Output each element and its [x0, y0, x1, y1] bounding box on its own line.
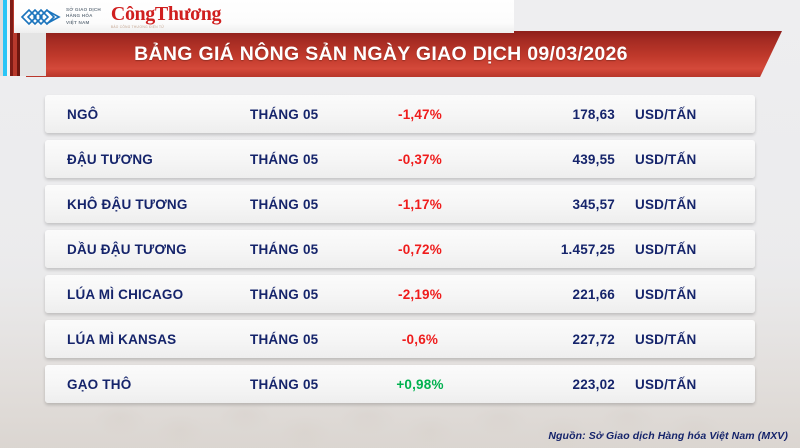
commodity-name: LÚA MÌ KANSAS: [67, 332, 176, 347]
cong-thuong-subtitle: BÁO CÔNG THƯƠNG ĐIỆN TỬ: [111, 25, 221, 29]
price-value: 178,63: [485, 107, 615, 122]
table-row: KHÔ ĐẬU TƯƠNGTHÁNG 05-1,17%345,57USD/TẤN: [45, 185, 755, 223]
commodity-name: ĐẬU TƯƠNG: [67, 152, 153, 167]
price-change: -0,37%: [355, 152, 485, 167]
price-unit: USD/TẤN: [635, 242, 696, 257]
logo-bar: SỞ GIAO DỊCH HÀNG HÓA VIỆT NAM CôngThươn…: [14, 0, 514, 33]
title-banner: BẢNG GIÁ NÔNG SẢN NGÀY GIAO DỊCH 09/03/2…: [26, 31, 782, 77]
price-unit: USD/TẤN: [635, 332, 696, 347]
price-value: 223,02: [485, 377, 615, 392]
contract-month: THÁNG 05: [250, 377, 318, 392]
mxv-diamond-mark: [20, 6, 62, 28]
price-value: 1.457,25: [485, 242, 615, 257]
table-row: DẦU ĐẬU TƯƠNGTHÁNG 05-0,72%1.457,25USD/T…: [45, 230, 755, 268]
price-change: +0,98%: [355, 377, 485, 392]
mxv-logo-text: SỞ GIAO DỊCH HÀNG HÓA VIỆT NAM: [66, 7, 101, 27]
table-row: LÚA MÌ KANSASTHÁNG 05-0,6%227,72USD/TẤN: [45, 320, 755, 358]
mxv-logo: SỞ GIAO DỊCH HÀNG HÓA VIỆT NAM: [20, 6, 101, 28]
contract-month: THÁNG 05: [250, 197, 318, 212]
commodity-name: LÚA MÌ CHICAGO: [67, 287, 183, 302]
price-value: 227,72: [485, 332, 615, 347]
table-row: LÚA MÌ CHICAGOTHÁNG 05-2,19%221,66USD/TẤ…: [45, 275, 755, 313]
cong-thuong-logo: CôngThương BÁO CÔNG THƯƠNG ĐIỆN TỬ: [111, 4, 221, 29]
table-row: NGÔTHÁNG 05-1,47%178,63USD/TẤN: [45, 95, 755, 133]
contract-month: THÁNG 05: [250, 242, 318, 257]
table-row: GẠO THÔTHÁNG 05+0,98%223,02USD/TẤN: [45, 365, 755, 403]
commodity-name: KHÔ ĐẬU TƯƠNG: [67, 197, 188, 212]
contract-month: THÁNG 05: [250, 107, 318, 122]
price-unit: USD/TẤN: [635, 107, 696, 122]
source-note: Nguồn: Sở Giao dịch Hàng hóa Việt Nam (M…: [548, 430, 788, 442]
cong-thuong-title: CôngThương: [111, 4, 221, 24]
price-unit: USD/TẤN: [635, 377, 696, 392]
price-unit: USD/TẤN: [635, 197, 696, 212]
price-value: 221,66: [485, 287, 615, 302]
table-row: ĐẬU TƯƠNGTHÁNG 05-0,37%439,55USD/TẤN: [45, 140, 755, 178]
contract-month: THÁNG 05: [250, 332, 318, 347]
contract-month: THÁNG 05: [250, 152, 318, 167]
commodity-price-table: NGÔTHÁNG 05-1,47%178,63USD/TẤNĐẬU TƯƠNGT…: [45, 95, 755, 410]
price-unit: USD/TẤN: [635, 152, 696, 167]
commodity-name: GẠO THÔ: [67, 377, 131, 392]
price-change: -2,19%: [355, 287, 485, 302]
price-change: -0,6%: [355, 332, 485, 347]
commodity-name: DẦU ĐẬU TƯƠNG: [67, 242, 187, 257]
commodity-name: NGÔ: [67, 107, 98, 122]
price-value: 345,57: [485, 197, 615, 212]
price-change: -1,47%: [355, 107, 485, 122]
price-change: -0,72%: [355, 242, 485, 257]
contract-month: THÁNG 05: [250, 287, 318, 302]
price-change: -1,17%: [355, 197, 485, 212]
price-value: 439,55: [485, 152, 615, 167]
price-unit: USD/TẤN: [635, 287, 696, 302]
page-title: BẢNG GIÁ NÔNG SẢN NGÀY GIAO DỊCH 09/03/2…: [134, 43, 674, 66]
